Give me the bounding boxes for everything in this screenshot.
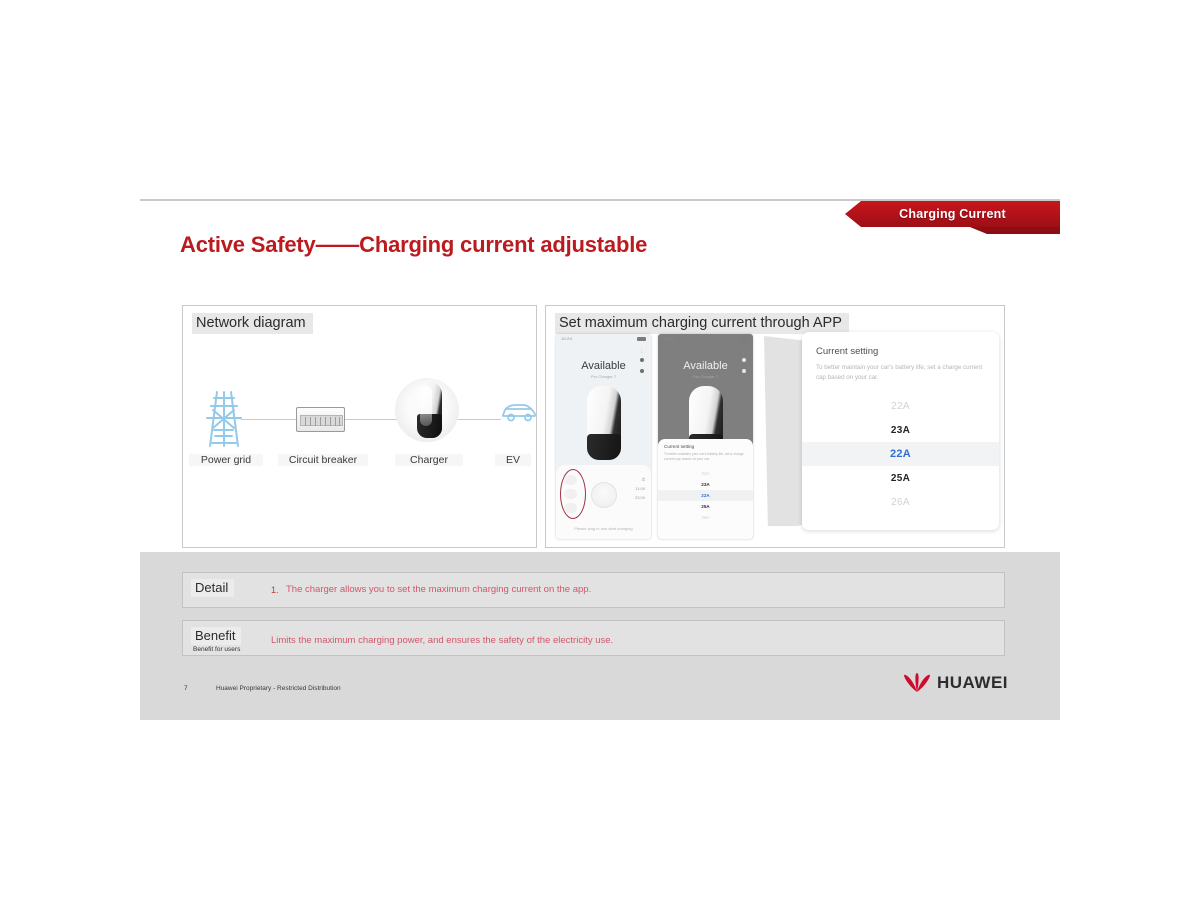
confidentiality-notice: Huawei Proprietary - Restricted Distribu… — [216, 685, 341, 692]
electric-car-icon — [501, 402, 537, 427]
circuit-breaker-icon — [296, 407, 345, 432]
detail-number: 1. — [271, 585, 279, 595]
annotation-ellipse — [560, 469, 586, 519]
network-diagram-header: Network diagram — [192, 313, 313, 334]
current-setting-callout: Current setting To better maintain your … — [764, 326, 999, 541]
page-number: 7 — [184, 685, 188, 692]
more-options-icon: ⋮ — [639, 348, 644, 354]
phone2-status-time: 10:24 — [663, 336, 674, 341]
sheet-option[interactable]: 22A — [658, 468, 753, 479]
callout-description: To better maintain your car's battery li… — [816, 363, 988, 383]
callout-current-picker[interactable]: 22A 23A 22A 25A 26A — [802, 394, 999, 514]
phone1-charger-base — [587, 434, 621, 460]
phone1-subtitle: Pro Charger 7 — [556, 374, 651, 379]
node-label-ev: EV — [495, 454, 531, 466]
power-pylon-icon — [201, 388, 247, 455]
breaker-bar — [300, 415, 343, 426]
callout-title: Current setting — [816, 346, 878, 357]
benefit-sublabel: Benefit for users — [193, 646, 240, 653]
callout-option[interactable]: 25A — [802, 466, 999, 490]
phone2-status-bar: 10:24 — [658, 334, 753, 343]
network-diagram-panel: Network diagram — [182, 305, 537, 548]
section-ribbon: Charging Current — [845, 201, 1060, 227]
callout-option[interactable]: 23A — [802, 418, 999, 442]
phone1-status-time: 10:24 — [561, 336, 572, 341]
phone2-side-controls — [742, 358, 746, 380]
battery-icon — [637, 337, 646, 341]
charger-highlight — [420, 386, 432, 426]
sheet-description: To better maintain your car's battery li… — [664, 452, 746, 462]
ribbon-label: Charging Current — [845, 201, 1060, 227]
page-title: Active Safety——Charging current adjustab… — [180, 232, 647, 258]
phone1-schedule: ⏱ 11:00 23:00 — [635, 477, 645, 504]
wire-grid-to-breaker — [241, 419, 296, 420]
phone1-title: Available — [556, 360, 651, 372]
phone1-schedule-start: 11:00 — [635, 486, 645, 491]
benefit-row: Benefit Benefit for users Limits the max… — [182, 620, 1005, 656]
current-setting-sheet: Current setting To better maintain your … — [658, 439, 753, 539]
callout-option-selected[interactable]: 22A — [802, 442, 999, 466]
sheet-current-picker[interactable]: 22A 23A 22A 25A 26A — [658, 468, 753, 523]
callout-option[interactable]: 22A — [802, 394, 999, 418]
wire-breaker-to-charger — [345, 419, 399, 420]
phone1-side-controls — [640, 358, 644, 380]
detail-row: Detail 1. The charger allows you to set … — [182, 572, 1005, 608]
summary-band: Detail 1. The charger allows you to set … — [140, 552, 1060, 720]
sheet-option[interactable]: 25A — [658, 501, 753, 512]
phone1-start-knob — [591, 482, 617, 508]
phone2-title: Available — [658, 360, 753, 372]
huawei-wordmark: HUAWEI — [937, 673, 1008, 693]
huawei-flower-icon — [904, 673, 930, 693]
node-label-charger: Charger — [395, 454, 463, 466]
phone1-bottom-card: ⏱ 11:00 23:00 Please plug in and start c… — [556, 465, 651, 539]
wire-charger-to-ev — [457, 419, 501, 420]
phone2-subtitle: Pro Charger 7 — [658, 374, 753, 379]
more-options-icon: ⋮ — [741, 348, 746, 354]
phone-screenshot-current-setting: 10:24 ⋮ Available Pro Charger 7 Current … — [658, 334, 753, 539]
detail-text: The charger allows you to set the maximu… — [286, 584, 591, 595]
phone1-card-note: Please plug in and start charging — [556, 526, 651, 531]
benefit-label: Benefit — [191, 627, 241, 645]
huawei-logo: HUAWEI — [904, 673, 1008, 693]
sheet-option[interactable]: 23A — [658, 479, 753, 490]
app-screens-panel: Set maximum charging current through APP… — [545, 305, 1005, 548]
sheet-title: Current setting — [664, 444, 694, 449]
sheet-option-selected[interactable]: 22A — [658, 490, 753, 501]
benefit-text: Limits the maximum charging power, and e… — [271, 635, 613, 646]
slide-canvas: Charging Current Active Safety——Charging… — [140, 190, 1060, 720]
callout-option[interactable]: 26A — [802, 490, 999, 514]
sheet-option[interactable]: 26A — [658, 512, 753, 523]
node-label-circuit-breaker: Circuit breaker — [278, 454, 368, 466]
phone1-schedule-end: 23:00 — [635, 495, 645, 500]
node-label-power-grid: Power grid — [189, 454, 263, 466]
phone-screenshot-available: 10:24 ⋮ Available Pro Charger 7 ⏱ 11:00 … — [556, 334, 651, 539]
phone1-status-bar: 10:24 — [556, 334, 651, 343]
detail-label: Detail — [191, 579, 234, 597]
battery-icon — [739, 337, 748, 341]
callout-card: Current setting To better maintain your … — [802, 332, 999, 530]
clock-icon: ⏱ — [635, 477, 645, 482]
